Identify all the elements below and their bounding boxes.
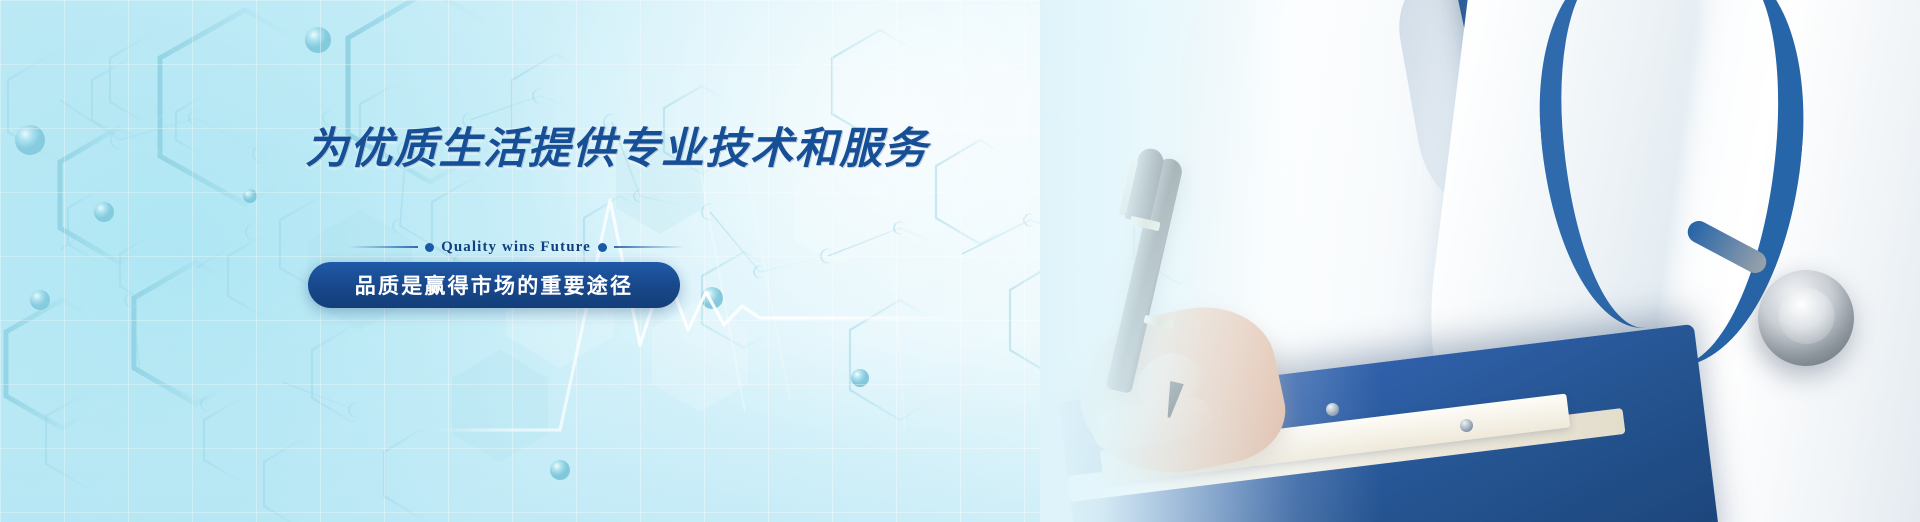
- stethoscope-tube-right: [1637, 0, 1817, 376]
- finger: [1102, 357, 1214, 428]
- hero-banner: 为优质生活提供专业技术和服务 Quality wins Future 品质是赢得…: [0, 0, 1920, 522]
- fountain-pen-clip: [1119, 158, 1139, 216]
- clipboard-rivet: [1460, 419, 1473, 432]
- hand: [1066, 293, 1295, 491]
- fountain-pen-cap: [1124, 146, 1166, 224]
- bullet-dot-right: [598, 243, 607, 252]
- clipboard-rivet: [1188, 387, 1201, 400]
- fountain-pen-ring: [1143, 315, 1173, 329]
- clipboard-rivet: [1326, 403, 1339, 416]
- white-coat-lapel: [1411, 0, 1699, 460]
- white-coat-right: [1540, 0, 1920, 522]
- thumb: [1128, 344, 1207, 418]
- clipboard-paper: [1100, 393, 1571, 484]
- tagline-english: Quality wins Future: [441, 239, 591, 256]
- doctor-photo: [1040, 0, 1920, 522]
- stethoscope-tube-left: [1530, 0, 1687, 334]
- stethoscope-stem: [1684, 217, 1770, 277]
- bullet-dot-left: [425, 243, 434, 252]
- stethoscope-bell: [1748, 260, 1864, 376]
- tagline-row: Quality wins Future: [348, 236, 684, 258]
- cta-button-label: 品质是赢得市场的重要途径: [355, 270, 633, 300]
- fountain-pen-ring: [1129, 216, 1160, 232]
- banner-content: 为优质生活提供专业技术和服务 Quality wins Future 品质是赢得…: [0, 0, 900, 522]
- photo-edge-fade: [1040, 0, 1380, 522]
- fountain-pen-tip: [1162, 381, 1184, 419]
- decorative-rule-right: [614, 246, 684, 248]
- finger: [1089, 394, 1214, 454]
- white-coat-left: [1166, 0, 1475, 522]
- banner-headline: 为优质生活提供专业技术和服务: [305, 128, 928, 171]
- necktie: [1449, 0, 1610, 174]
- clipboard-edge: [1067, 408, 1626, 502]
- cta-button[interactable]: 品质是赢得市场的重要途径: [308, 262, 680, 308]
- dress-shirt: [1390, 0, 1640, 226]
- fountain-pen-body: [1106, 156, 1185, 394]
- decorative-rule-left: [348, 246, 418, 248]
- clipboard: [1058, 324, 1721, 522]
